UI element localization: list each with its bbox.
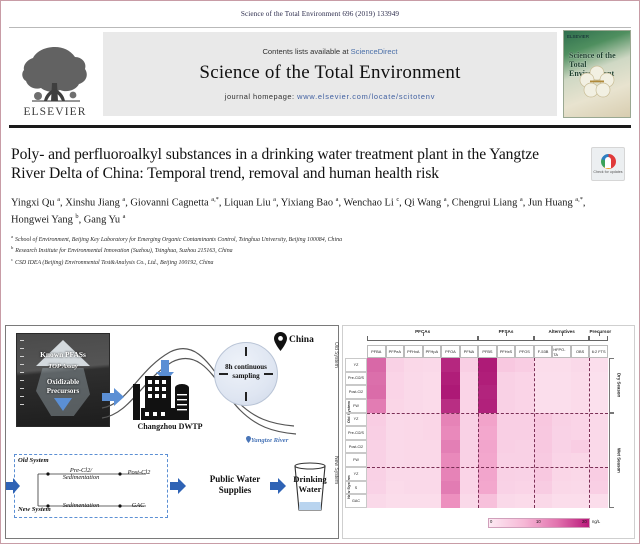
- heatmap-cell: [404, 358, 423, 372]
- heatmap-col-header: 6:2 FTS: [589, 345, 608, 358]
- heatmap-cell: [571, 426, 590, 440]
- heatmap-cell: [441, 399, 460, 413]
- crossmark-label: Check for updates: [593, 170, 622, 174]
- clock-label: 8h continuous sampling: [215, 363, 277, 381]
- heatmap-cell: [404, 440, 423, 454]
- heatmap-col-header: F-53B: [534, 345, 553, 358]
- masthead-rule: [9, 125, 631, 128]
- heatmap-group-3: Precursor: [589, 329, 608, 334]
- heatmap-cell: [552, 385, 571, 399]
- affiliation-list: aSchool of Environment, Beijing Key Labo…: [11, 233, 629, 267]
- drinking-water-label: Drinking Water: [282, 474, 338, 494]
- heatmap-cell: [423, 385, 442, 399]
- iceberg-assay-label: TOP Assay: [17, 363, 109, 370]
- heatmap-cell: [404, 467, 423, 481]
- heatmap-cell: [460, 494, 479, 508]
- heatmap-cell: [589, 481, 608, 495]
- heatmap-cell: [441, 481, 460, 495]
- heatmap-cell: [460, 453, 479, 467]
- diagram-bracket-old-system: Old System: [333, 342, 339, 426]
- node-post-cl2: Post-Cl2: [122, 469, 156, 476]
- heatmap-grid: [367, 358, 608, 508]
- heatmap-group-bracket: [589, 336, 608, 341]
- heatmap-cell: [460, 385, 479, 399]
- heatmap-cell: [367, 385, 386, 399]
- sciencedirect-link[interactable]: ScienceDirect: [351, 47, 398, 56]
- heatmap-cell: [515, 413, 534, 427]
- heatmap-row-label: S: [345, 481, 367, 495]
- heatmap-row: [367, 385, 608, 399]
- heatmap-cell: [571, 494, 590, 508]
- heatmap-cell: [404, 453, 423, 467]
- map-pin-icon: [274, 332, 287, 351]
- node-sedimentation: Sedimentation: [56, 502, 106, 509]
- heatmap-cell: [478, 413, 497, 427]
- affiliation-marker-a: a: [11, 234, 13, 239]
- arrow-to-supplies-icon: [170, 478, 186, 494]
- heatmap-cell: [534, 413, 553, 427]
- heatmap-cell: [423, 481, 442, 495]
- season-label: Dry Season: [617, 373, 622, 397]
- heatmap-cell: [386, 494, 405, 508]
- heatmap-row-label: Pre-Cl2/S: [345, 372, 367, 386]
- sampling-clock-icon: 8h continuous sampling: [214, 342, 278, 406]
- heatmap-group-bracket: [534, 336, 590, 341]
- heatmap-cell: [423, 494, 442, 508]
- heatmap-cell: [404, 413, 423, 427]
- heatmap-cell: [386, 385, 405, 399]
- heatmap-cell: [571, 358, 590, 372]
- heatmap-cell: [386, 399, 405, 413]
- heatmap-cell: [515, 494, 534, 508]
- heatmap-cell: [515, 358, 534, 372]
- public-water-line1: Public Water: [210, 474, 261, 484]
- heatmap-season-1: Wet Season: [609, 413, 629, 508]
- heatmap-cell: [534, 453, 553, 467]
- heatmap-cell: [441, 358, 460, 372]
- heatmap-cell: [441, 494, 460, 508]
- heatmap-cell: [534, 426, 553, 440]
- clock-label-line1: 8h continuous: [225, 363, 267, 371]
- heatmap-cell: [460, 358, 479, 372]
- affiliation-marker-b: b: [11, 245, 13, 250]
- heatmap-cell: [552, 494, 571, 508]
- heatmap-cell: [478, 494, 497, 508]
- heatmap-cell: [404, 426, 423, 440]
- heatmap-col-header: PFHxA: [404, 345, 423, 358]
- heatmap-cell: [460, 426, 479, 440]
- heatmap-season-brackets: Dry SeasonWet Season: [608, 358, 630, 508]
- heatmap-cell: [423, 467, 442, 481]
- heatmap-cell: [589, 413, 608, 427]
- heatmap-cell: [386, 413, 405, 427]
- contents-line: Contents lists available at ScienceDirec…: [262, 47, 397, 56]
- heatmap-cell: [478, 372, 497, 386]
- heatmap-cell: [552, 481, 571, 495]
- heatmap-cell: [386, 440, 405, 454]
- journal-cover-thumbnail: ELSEVIER Science of the Total Environmen…: [563, 30, 631, 118]
- heatmap-cell: [367, 453, 386, 467]
- iceberg-illustration: Known PFASs TOP Assay Oxidizable Precurs…: [16, 333, 110, 427]
- heatmap-cell: [441, 385, 460, 399]
- iceberg-oxidizable-label: Oxidizable: [17, 378, 109, 386]
- heatmap-col-header: PFHxS: [497, 345, 516, 358]
- heatmap-cell: [534, 385, 553, 399]
- diagram-bracket-new-system: New System: [333, 456, 339, 518]
- heatmap-cell: [404, 399, 423, 413]
- heatmap-cell: [460, 440, 479, 454]
- heatmap-cell: [534, 399, 553, 413]
- heatmap-cell: [423, 453, 442, 467]
- heatmap-cell: [460, 372, 479, 386]
- heatmap-cell: [515, 453, 534, 467]
- heatmap-row-label: YZ: [345, 413, 367, 427]
- author-list: Yingxi Qu a, Xinshu Jiang a, Giovanni Ca…: [11, 193, 611, 228]
- heatmap-cell: [497, 494, 516, 508]
- affiliation-text-b: Research Institute for Environmental Inn…: [15, 248, 232, 254]
- heatmap-row: [367, 358, 608, 372]
- heatmap-cell: [386, 372, 405, 386]
- heatmap-cell: [497, 399, 516, 413]
- drinking-line1: Drinking: [293, 474, 326, 484]
- journal-title: Science of the Total Environment: [199, 62, 460, 84]
- arrow-right-icon: [102, 388, 124, 406]
- heatmap-cell: [571, 372, 590, 386]
- heatmap-cell: [571, 413, 590, 427]
- heatmap-cell: [460, 481, 479, 495]
- heatmap-body: YZPre-Cl2/SPost-Cl2FWYZPre-Cl2/SPost-Cl2…: [345, 358, 608, 508]
- sciencedirect-banner: Contents lists available at ScienceDirec…: [103, 32, 557, 116]
- heatmap-cell: [515, 385, 534, 399]
- heatmap-row-label: YZ: [345, 467, 367, 481]
- heatmap-cell: [441, 440, 460, 454]
- page-title: Poly- and perfluoroalkyl substances in a…: [11, 145, 567, 183]
- heatmap-row-label: FW: [345, 453, 367, 467]
- heatmap-cell: [478, 440, 497, 454]
- heatmap-cell: [552, 440, 571, 454]
- heatmap-cell: [534, 481, 553, 495]
- heatmap-cell: [589, 426, 608, 440]
- heatmap-cell: [386, 426, 405, 440]
- heatmap-system-separator: [367, 467, 608, 468]
- heatmap-cell: [423, 440, 442, 454]
- heatmap-col-header: OBS: [571, 345, 590, 358]
- heatmap-cell: [515, 481, 534, 495]
- journal-homepage-line: journal homepage: www.elsevier.com/locat…: [225, 92, 435, 101]
- heatmap-cell: [571, 453, 590, 467]
- heatmap-cell: [552, 358, 571, 372]
- heatmap-cell: [589, 440, 608, 454]
- heatmap-group-0: PFCAs: [367, 329, 478, 334]
- affiliation-text-c: CSD IDEA (Beijing) Environmental Test&An…: [15, 260, 213, 266]
- heatmap-group-bracket: [367, 336, 478, 341]
- heatmap-cell: [423, 399, 442, 413]
- heatmap-cell: [367, 426, 386, 440]
- heatmap-cell: [460, 413, 479, 427]
- heatmap-cell: [367, 413, 386, 427]
- heatmap-cell: [589, 467, 608, 481]
- heatmap-cell: [552, 453, 571, 467]
- country-label: China: [289, 335, 314, 345]
- heatmap-cell: [386, 358, 405, 372]
- heatmap-figure: PFCAsPFSAsAlternativesPrecursor PFBAPFPe…: [342, 325, 635, 539]
- heatmap-cell: [534, 372, 553, 386]
- heatmap-cell: [423, 372, 442, 386]
- iceberg-precursors-label: Precursors: [17, 387, 109, 395]
- crossmark-icon: [601, 154, 616, 169]
- heatmap-cell: [497, 453, 516, 467]
- heatmap-group-separator: [589, 358, 590, 508]
- heatmap-cell: [478, 358, 497, 372]
- heatmap-cell: [441, 453, 460, 467]
- heatmap-cell: [534, 467, 553, 481]
- heatmap: PFCAsPFSAsAlternativesPrecursor PFBAPFPe…: [345, 328, 632, 536]
- heatmap-cell: [404, 494, 423, 508]
- heatmap-cell: [497, 426, 516, 440]
- heatmap-cell: [460, 467, 479, 481]
- heatmap-cell: [497, 413, 516, 427]
- homepage-prefix: journal homepage:: [225, 92, 297, 101]
- drinking-line2: Water: [299, 484, 322, 494]
- heatmap-cell: [478, 399, 497, 413]
- heatmap-group-separator: [534, 358, 535, 508]
- homepage-url-link[interactable]: www.elsevier.com/locate/scitotenv: [297, 92, 435, 101]
- heatmap-row: [367, 426, 608, 440]
- cover-publisher-label: ELSEVIER: [567, 34, 589, 39]
- heatmap-col-header: PFBA: [367, 345, 386, 358]
- heatmap-cell: [367, 372, 386, 386]
- heatmap-row-label: Post-Cl2: [345, 440, 367, 454]
- heatmap-cell: [497, 358, 516, 372]
- heatmap-cell: [367, 481, 386, 495]
- heatmap-cell: [478, 453, 497, 467]
- affiliation-b: bResearch Institute for Environmental In…: [11, 244, 629, 255]
- heatmap-row: [367, 467, 608, 481]
- heatmap-col-header: PFOS: [515, 345, 534, 358]
- heatmap-cell: [404, 385, 423, 399]
- heatmap-row-label: YZ: [345, 358, 367, 372]
- heatmap-cell: [367, 494, 386, 508]
- heatmap-col-header: PFPeA: [386, 345, 405, 358]
- heatmap-cell: [571, 481, 590, 495]
- heatmap-col-header: PFHpA: [423, 345, 442, 358]
- heatmap-row: [367, 372, 608, 386]
- heatmap-cell: [552, 467, 571, 481]
- heatmap-group-label: Precursor: [589, 329, 611, 334]
- heatmap-group-bracket: [478, 336, 534, 341]
- heatmap-cell: [367, 399, 386, 413]
- heatmap-row-label: Pre-Cl2/S: [345, 426, 367, 440]
- public-water-line2: Supplies: [219, 485, 252, 495]
- heatmap-cell: [515, 372, 534, 386]
- heatmap-row: [367, 453, 608, 467]
- season-bracket: [609, 413, 614, 508]
- heatmap-col-header: PFBS: [478, 345, 497, 358]
- heatmap-cell: [404, 481, 423, 495]
- heatmap-cell: [515, 440, 534, 454]
- heatmap-row: [367, 413, 608, 427]
- heatmap-cell: [404, 372, 423, 386]
- graphical-abstract: Known PFASs TOP Assay Oxidizable Precurs…: [5, 325, 635, 539]
- contents-prefix: Contents lists available at: [262, 47, 350, 56]
- colorbar-unit: ng/L: [592, 519, 600, 524]
- heatmap-cell: [478, 385, 497, 399]
- heatmap-cell: [589, 358, 608, 372]
- heatmap-col-header: PFOA: [441, 345, 460, 358]
- journal-masthead: ELSEVIER Contents lists available at Sci…: [9, 27, 631, 120]
- heatmap-cell: [589, 453, 608, 467]
- heatmap-column-headers: PFBAPFPeAPFHxAPFHpAPFOAPFNAPFBSPFHxSPFOS…: [367, 345, 608, 358]
- heatmap-cell: [534, 440, 553, 454]
- heatmap-cell: [497, 481, 516, 495]
- heatmap-cell: [589, 372, 608, 386]
- heatmap-cell: [478, 481, 497, 495]
- river-label-text: Yangtze River: [251, 437, 288, 444]
- heatmap-row: [367, 399, 608, 413]
- heatmap-col-header: PFNA: [460, 345, 479, 358]
- heatmap-cell: [589, 385, 608, 399]
- process-diagram: Known PFASs TOP Assay Oxidizable Precurs…: [5, 325, 339, 539]
- heatmap-row-label: GAC: [345, 494, 367, 508]
- heatmap-cell: [515, 399, 534, 413]
- arrow-inflow-icon: [6, 478, 20, 494]
- affiliation-text-a: School of Environment, Beijing Key Labor…: [15, 237, 342, 243]
- heatmap-cell: [441, 467, 460, 481]
- heatmap-cell: [497, 372, 516, 386]
- treatment-plant-icon: [131, 374, 203, 420]
- heatmap-cell: [571, 399, 590, 413]
- article-first-page: Science of the Total Environment 696 (20…: [0, 0, 640, 544]
- colorbar-tick-1: 10: [536, 519, 541, 524]
- heatmap-cell: [386, 481, 405, 495]
- heatmap-row: [367, 481, 608, 495]
- heatmap-season-0: Dry Season: [609, 358, 629, 413]
- elsevier-logo: ELSEVIER: [9, 28, 101, 120]
- heatmap-cell: [589, 399, 608, 413]
- title-block: Poly- and perfluoroalkyl substances in a…: [11, 145, 629, 183]
- cover-flower-icon: [578, 64, 616, 98]
- heatmap-cell: [571, 467, 590, 481]
- heatmap-season-separator: [367, 413, 608, 414]
- season-bracket: [609, 358, 614, 413]
- heatmap-cell: [441, 413, 460, 427]
- heatmap-col-header: HFPO-TA: [552, 345, 571, 358]
- heatmap-cell: [571, 440, 590, 454]
- affiliation-marker-c: c: [11, 257, 13, 262]
- elsevier-wordmark: ELSEVIER: [23, 106, 86, 118]
- heatmap-cell: [478, 426, 497, 440]
- season-label: Wet Season: [617, 448, 622, 473]
- heatmap-row-label: FW: [345, 399, 367, 413]
- heatmap-cell: [497, 385, 516, 399]
- heatmap-cell: [552, 426, 571, 440]
- public-water-label: Public Water Supplies: [192, 474, 278, 496]
- heatmap-row-labels: YZPre-Cl2/SPost-Cl2FWYZPre-Cl2/SPost-Cl2…: [345, 358, 367, 508]
- heatmap-cell: [515, 426, 534, 440]
- heatmap-cell: [423, 358, 442, 372]
- heatmap-group-2: Alternatives: [534, 329, 590, 334]
- node-pre-cl2: Pre-Cl2/ Sedimentation: [54, 467, 108, 481]
- heatmap-group-separator: [478, 358, 479, 508]
- heatmap-cell: [552, 372, 571, 386]
- heatmap-cell: [552, 399, 571, 413]
- heatmap-cell: [460, 399, 479, 413]
- heatmap-cell: [534, 358, 553, 372]
- heatmap-cell: [367, 467, 386, 481]
- river-label: Yangtze River: [246, 436, 288, 444]
- heatmap-cell: [441, 426, 460, 440]
- heatmap-cell: [367, 358, 386, 372]
- heatmap-cell: [534, 494, 553, 508]
- heatmap-cell: [497, 440, 516, 454]
- crossmark-badge[interactable]: Check for updates: [591, 147, 625, 181]
- heatmap-colorbar: 0 10 20 ng/L: [488, 514, 608, 532]
- iceberg-down-arrow-icon: [54, 398, 72, 411]
- heatmap-cell: [423, 426, 442, 440]
- heatmap-cell: [571, 385, 590, 399]
- heatmap-cell: [589, 494, 608, 508]
- iceberg-known-label: Known PFASs: [17, 350, 109, 359]
- heatmap-column-groups: PFCAsPFSAsAlternativesPrecursor: [367, 329, 608, 344]
- heatmap-group-1: PFSAs: [478, 329, 534, 334]
- colorbar-tick-2: 20: [582, 519, 587, 524]
- heatmap-cell: [367, 440, 386, 454]
- heatmap-cell: [423, 413, 442, 427]
- elsevier-tree-icon: [18, 43, 92, 105]
- heatmap-cell: [386, 467, 405, 481]
- heatmap-row-label: Post-Cl2: [345, 385, 367, 399]
- heatmap-cell: [552, 413, 571, 427]
- node-gac: GAC: [126, 502, 150, 509]
- heatmap-cell: [515, 467, 534, 481]
- heatmap-row: [367, 440, 608, 454]
- heatmap-cell: [386, 453, 405, 467]
- old-system-label: Old System: [18, 457, 49, 464]
- affiliation-c: cCSD IDEA (Beijing) Environmental Test&A…: [11, 256, 629, 267]
- colorbar-tick-0: 0: [490, 519, 492, 524]
- plant-label: Changzhou DWTP: [110, 422, 230, 431]
- heatmap-row: [367, 494, 608, 508]
- clock-label-line2: sampling: [232, 372, 259, 380]
- running-head: Science of the Total Environment 696 (20…: [1, 1, 639, 18]
- heatmap-cell: [497, 467, 516, 481]
- heatmap-cell: [478, 467, 497, 481]
- affiliation-a: aSchool of Environment, Beijing Key Labo…: [11, 233, 629, 244]
- heatmap-cell: [441, 372, 460, 386]
